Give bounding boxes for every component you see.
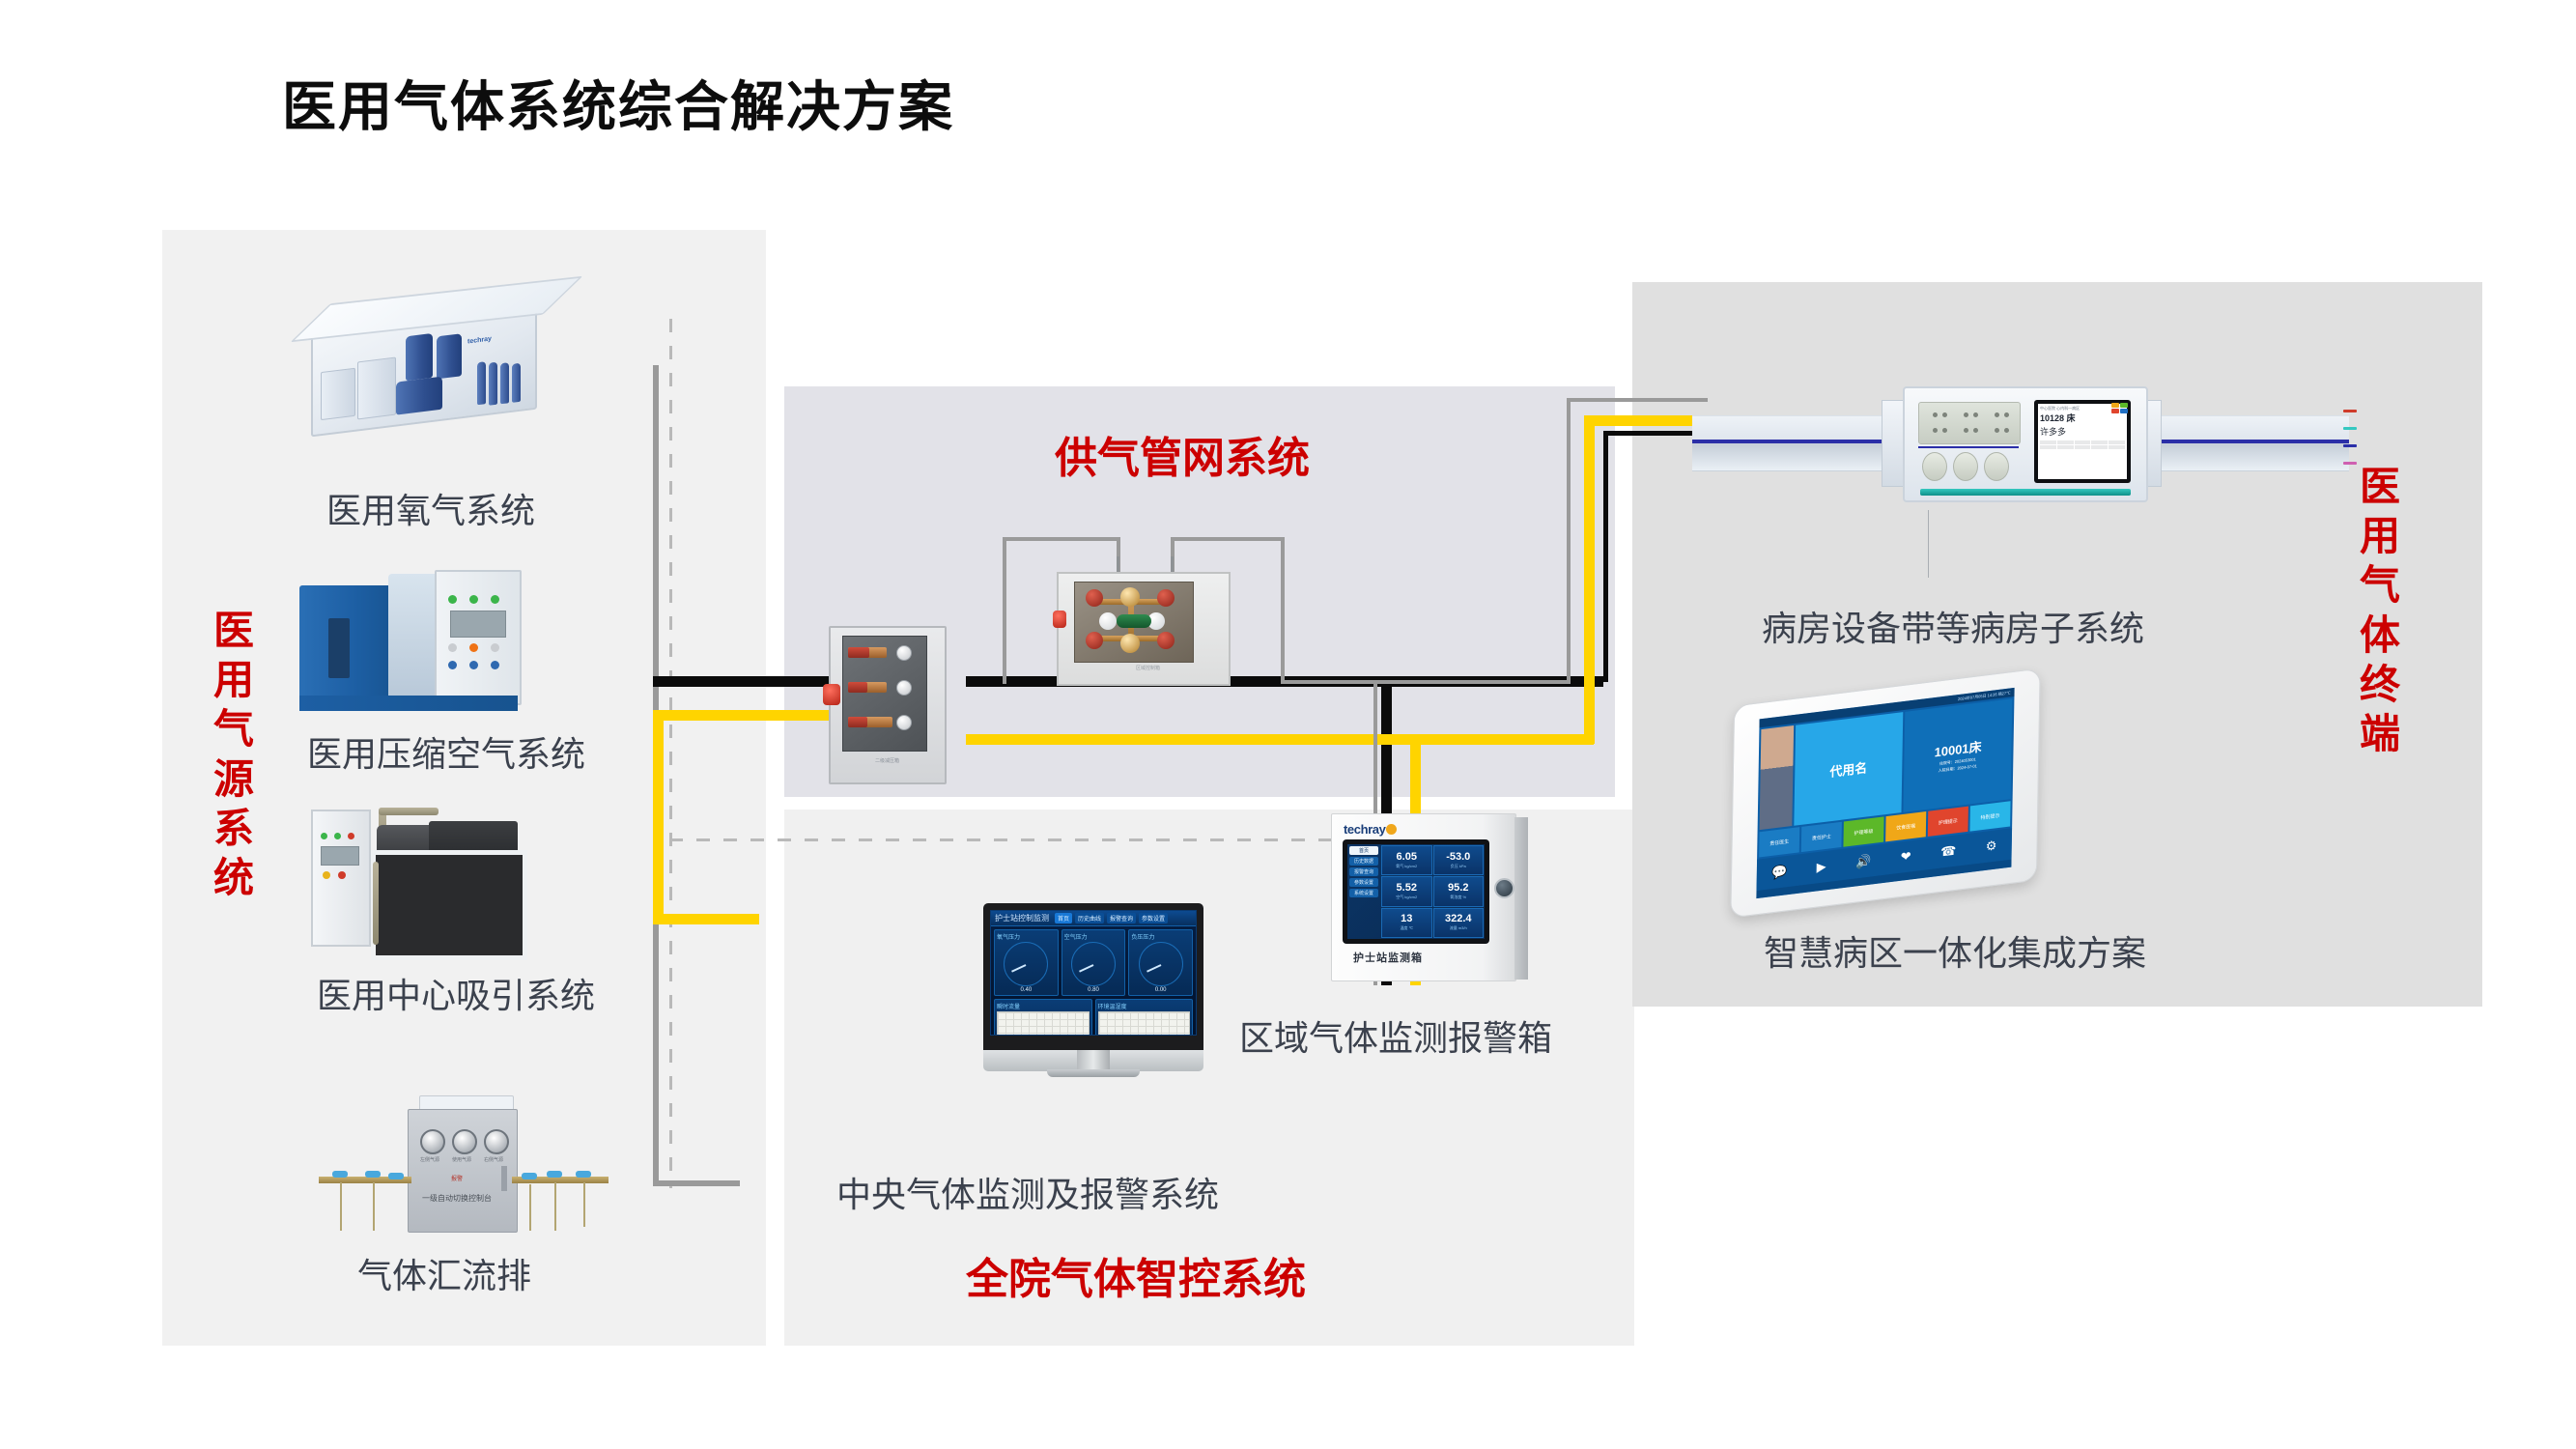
- air-pipe-riser-right: [1584, 415, 1595, 744]
- alarm-nav-0[interactable]: 首页: [1349, 846, 1378, 855]
- signal-line-to-workstation: [669, 838, 1432, 841]
- alarm-nav-4[interactable]: 系统设置: [1349, 889, 1378, 897]
- vacuum-pipe-terminal-riser: [1603, 431, 1608, 682]
- alarm-unit-5: 流量 m3/h: [1450, 925, 1467, 931]
- tablet-tile-nursing-tip[interactable]: 护理提示: [1928, 807, 1968, 837]
- alarm-reading-4: 13 温度 ℃: [1381, 908, 1432, 938]
- alarm-box-lock-knob[interactable]: [1494, 878, 1514, 898]
- workstation-window-title: 护士站控制监测: [995, 913, 1049, 923]
- tablet-tile-special-tip[interactable]: 特别提示: [1969, 801, 2010, 831]
- gauge-label-1: 空气压力: [1064, 932, 1123, 941]
- workstation-chart-env: 环境温湿度: [1095, 999, 1194, 1036]
- caption-smart-ward-solution: 智慧病区一体化集成方案: [1764, 925, 2146, 976]
- tablet-tile-care-level[interactable]: 护理等级: [1843, 816, 1883, 846]
- gauge-dial-0: [1004, 942, 1048, 986]
- heart-icon[interactable]: ❤: [1901, 848, 1911, 865]
- label-gas-terminal: 医用气体终端: [2357, 462, 2403, 758]
- alarm-unit-3: 氧浓度 %: [1450, 895, 1466, 900]
- workstation-tab-1[interactable]: 历史曲线: [1075, 913, 1104, 923]
- device-area-alarm-box: techray 首页 历史数据 报警查询 参数设置 系统设置 6.05 氧气 k…: [1331, 813, 1530, 983]
- device-central-workstation: 护士站控制监测 首页 历史曲线 报警查询 参数设置 氧气压力 0.40 空气压力: [983, 903, 1203, 1079]
- play-icon[interactable]: ▶: [1817, 859, 1826, 875]
- chart-label-1: 环境温湿度: [1098, 1002, 1191, 1010]
- workstation-tab-0[interactable]: 首页: [1055, 913, 1072, 923]
- caption-compressed-air-system: 医用压缩空气系统: [307, 726, 585, 777]
- alarm-value-4: 13: [1401, 914, 1412, 924]
- gauge-dial-1: [1071, 942, 1116, 986]
- alarm-reading-3: 95.2 氧浓度 %: [1433, 876, 1485, 906]
- alarm-unit-2: 空气 kg/cm2: [1396, 895, 1417, 900]
- gauge-dial-2: [1139, 942, 1183, 986]
- alarm-value-0: 6.05: [1397, 852, 1417, 863]
- chart-plot-1: [1098, 1011, 1191, 1036]
- workstation-gauge-vacuum: 负压压力 0.00: [1128, 929, 1193, 996]
- oxygen-pipe-manifold-link: [653, 1180, 740, 1186]
- alarm-value-3: 95.2: [1448, 883, 1468, 894]
- workstation-gauge-air: 空气压力 0.80: [1062, 929, 1126, 996]
- alarm-unit-0: 氧气 kg/cm2: [1396, 864, 1417, 869]
- alarm-unit-1: 负压 kPa: [1451, 864, 1466, 869]
- device-zone-valve-box: 区域控制箱: [1057, 572, 1227, 694]
- gauge-value-2: 0.00: [1131, 987, 1190, 993]
- alarm-reading-2: 5.52 空气 kg/cm2: [1381, 876, 1432, 906]
- device-bedside-tablet: 2024年07月05日 14:26 晴27℃ 代用名 10001床 住院号：20…: [1730, 668, 2040, 918]
- air-pipe-riser: [653, 715, 664, 923]
- diagram-canvas: 医用气体系统综合解决方案: [0, 0, 2576, 1449]
- page-title: 医用气体系统综合解决方案: [282, 64, 954, 142]
- alarm-value-1: -53.0: [1446, 852, 1470, 863]
- caption-oxygen-system: 医用氧气系统: [326, 483, 535, 533]
- caption-gas-manifold: 气体汇流排: [357, 1248, 531, 1298]
- alarm-box-brand: techray: [1344, 822, 1397, 837]
- alarm-reading-5: 322.4 流量 m3/h: [1433, 908, 1485, 938]
- air-pipe-to-box: [653, 710, 846, 721]
- alarm-value-2: 5.52: [1397, 883, 1417, 894]
- oxygen-pipe-loop-right: [1281, 537, 1285, 684]
- bedhead-patient-name: 许多多: [2040, 425, 2125, 438]
- settings-icon[interactable]: ⚙: [1986, 838, 1997, 855]
- chart-label-0: 瞬时流量: [997, 1002, 1090, 1010]
- tablet-doctor-tile[interactable]: 责任医生: [1759, 827, 1799, 857]
- call-icon[interactable]: ☎: [1940, 842, 1956, 860]
- equipment-gas-manifold: 左侧气源 使用气源 右侧气源 报警 一级自动切换控制台: [319, 1095, 609, 1240]
- workstation-tab-3[interactable]: 参数设置: [1139, 913, 1168, 923]
- heading-smart-gas-control: 全院气体智控系统: [966, 1244, 1306, 1306]
- equipment-oxygen-plant: techray: [311, 290, 552, 435]
- caption-central-monitoring-system: 中央气体监测及报警系统: [836, 1167, 1219, 1217]
- caption-bedhead-subsystem: 病房设备带等病房子系统: [1762, 601, 2144, 651]
- caption-area-alarm-box: 区域气体监测报警箱: [1239, 1010, 1552, 1061]
- patient-avatar: [1760, 725, 1795, 830]
- heading-pipe-network: 供气管网系统: [1055, 423, 1310, 485]
- alarm-reading-1: -53.0 负压 kPa: [1433, 845, 1485, 875]
- gauge-value-1: 0.80: [1064, 987, 1123, 993]
- alarm-nav-3[interactable]: 参数设置: [1349, 878, 1378, 887]
- oxygen-pipe-riser-right: [1567, 398, 1571, 684]
- gauge-value-0: 0.40: [997, 987, 1056, 993]
- oxygen-pipe-loop-top-left: [1003, 537, 1120, 541]
- device-bed-head-unit: 中心医院 心内科一病区 10128 床 许多多: [1692, 379, 2349, 524]
- gauge-label-0: 氧气压力: [997, 932, 1056, 941]
- air-pipe-lower-link: [653, 914, 759, 924]
- alarm-nav-2[interactable]: 报警查询: [1349, 867, 1378, 876]
- label-gas-source-system: 医用气源系统: [211, 606, 257, 902]
- oxygen-pipe-to-right-riser: [1281, 680, 1571, 684]
- oxygen-pipe-loop-left: [1003, 537, 1006, 684]
- volume-icon[interactable]: 🔊: [1855, 853, 1871, 870]
- vacuum-pipe-left: [653, 676, 846, 687]
- device-pressure-reducing-box: 二级减压箱: [829, 626, 943, 781]
- alarm-reading-0: 6.05 氧气 kg/cm2: [1381, 845, 1432, 875]
- workstation-chart-flow: 瞬时流量: [994, 999, 1092, 1036]
- equipment-air-compressor: [299, 568, 531, 715]
- equipment-vacuum-pump: [311, 804, 531, 958]
- caption-central-suction-system: 医用中心吸引系统: [317, 968, 595, 1018]
- alarm-value-5: 322.4: [1445, 914, 1472, 924]
- air-pipe-main: [966, 734, 1594, 745]
- gauge-label-2: 负压压力: [1131, 932, 1190, 941]
- signal-line-vertical: [669, 319, 672, 1188]
- alarm-nav-1[interactable]: 历史数据: [1349, 857, 1378, 866]
- oxygen-pipe-terminal-feed: [1567, 398, 1708, 402]
- alarm-box-faceplate-label: 护士站监测箱: [1353, 950, 1423, 965]
- oxygen-pipe-loop-top-right: [1171, 537, 1285, 541]
- tablet-bed-tile: 10001床 住院号：2024053001 入院日期：2024-07-01: [1903, 698, 2012, 812]
- tablet-tile-diet[interactable]: 饮食医嘱: [1885, 811, 1926, 841]
- message-icon[interactable]: 💬: [1771, 864, 1787, 881]
- chart-plot-0: [997, 1011, 1090, 1036]
- tablet-nurse-tile[interactable]: 责任护士: [1801, 822, 1842, 852]
- workstation-gauge-oxygen: 氧气压力 0.40: [994, 929, 1059, 996]
- alarm-unit-4: 温度 ℃: [1400, 925, 1413, 931]
- tablet-patient-name: 代用名: [1794, 712, 1903, 826]
- workstation-tab-2[interactable]: 报警查询: [1107, 913, 1136, 923]
- air-pipe-to-terminal: [1584, 415, 1700, 426]
